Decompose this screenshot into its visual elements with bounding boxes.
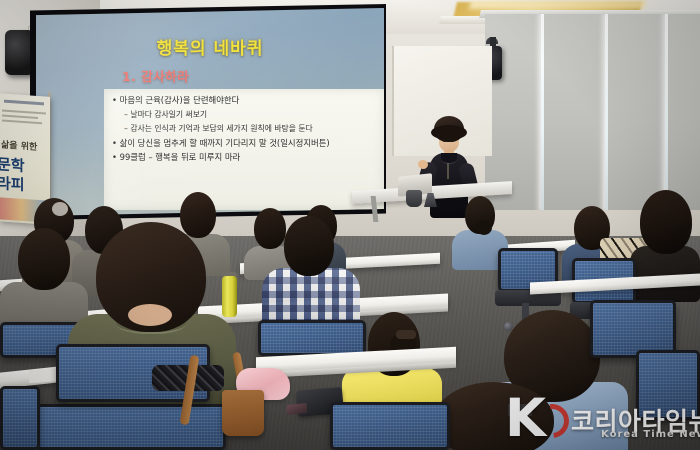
watermark-romanized: Korea Time News bbox=[601, 429, 700, 440]
watermark: K 코리아타임뉴스 Korea Time News bbox=[505, 396, 695, 446]
slide-bullet: 감사는 인식과 기억과 보답의 세가지 원칙에 바탕을 둔다 bbox=[112, 125, 378, 134]
banner-line-2: 라피 bbox=[0, 172, 25, 195]
hair-clip bbox=[52, 202, 68, 216]
neck bbox=[128, 304, 172, 326]
lecture-room: 행복의 네바퀴 1. 감사하라 마음의 근육(감사)을 단련해야한다 날마다 감… bbox=[0, 0, 700, 450]
photo-stage: 행복의 네바퀴 1. 감사하라 마음의 근육(감사)을 단련해야한다 날마다 감… bbox=[0, 0, 700, 450]
slide-subtitle: 1. 감사하라 bbox=[122, 66, 189, 85]
slide-bullet: 99클럽 – 행복을 뒤로 미루지 마라 bbox=[112, 153, 378, 163]
presenter-necklace bbox=[447, 163, 449, 179]
cove-light-glow bbox=[469, 0, 646, 9]
hair-clip bbox=[396, 330, 416, 339]
chair-row1 bbox=[36, 404, 226, 450]
chair-row1c bbox=[0, 386, 40, 450]
chair-row1d bbox=[330, 402, 450, 450]
slide-bullet: 날마다 감사일기 써보기 bbox=[112, 111, 378, 120]
projection-screen: 행복의 네바퀴 1. 감사하라 마음의 근육(감사)을 단련해야한다 날마다 감… bbox=[36, 8, 384, 216]
banner-line-top: 삶을 위한 bbox=[1, 137, 37, 153]
slide-title: 행복의 네바퀴 bbox=[36, 34, 384, 59]
microphone-base bbox=[406, 190, 422, 207]
hair-bun bbox=[476, 220, 492, 235]
phone-device bbox=[287, 403, 308, 415]
brown-handbag bbox=[222, 390, 264, 436]
presenter-hair bbox=[434, 116, 464, 142]
presenter-collar bbox=[441, 153, 457, 164]
slide-content-box: 마음의 근육(감사)을 단련해야한다 날마다 감사일기 써보기 감사는 인식과 … bbox=[104, 89, 384, 210]
slide-bullet: 삶이 당신을 멈추게 할 때까지 기다리지 말 것(일시정지버튼) bbox=[112, 139, 378, 149]
wall-speaker-left bbox=[5, 30, 34, 75]
slide-bullet: 마음의 근육(감사)을 단련해야한다 bbox=[112, 96, 378, 106]
slide-bullet-list: 마음의 근육(감사)을 단련해야한다 날마다 감사일기 써보기 감사는 인식과 … bbox=[104, 89, 384, 163]
window-blinds bbox=[485, 14, 700, 210]
